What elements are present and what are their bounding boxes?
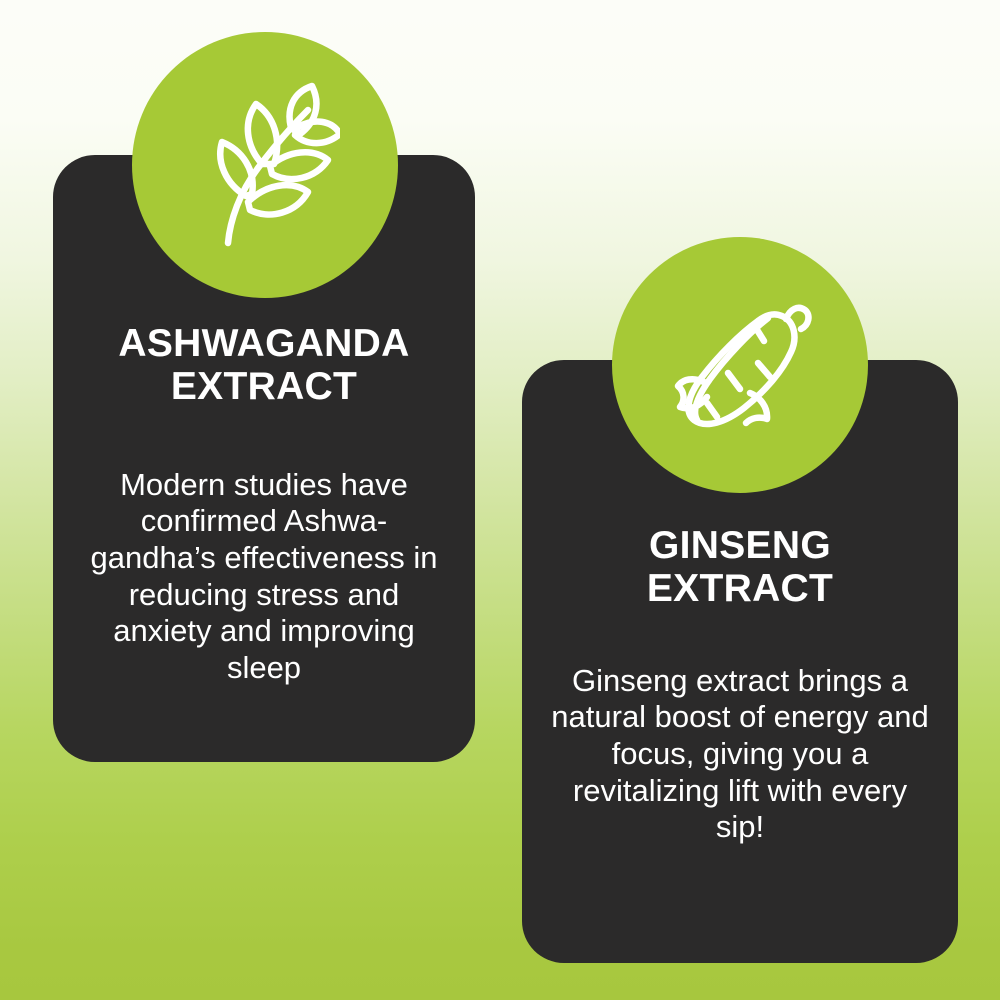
icon-badge-ashwaganda: [132, 32, 398, 298]
card-body-ashwaganda: Modern studies have confirmed Ashwa-gand…: [79, 467, 449, 686]
card-body-ginseng: Ginseng extract brings a natural boost o…: [548, 663, 932, 846]
card-title-ashwaganda: ASHWAGANDA EXTRACT: [118, 323, 409, 409]
icon-badge-ginseng: [612, 237, 868, 493]
ginseng-root-icon: [664, 289, 816, 441]
card-title-ginseng: GINSENG EXTRACT: [647, 525, 833, 611]
infographic-canvas: ASHWAGANDA EXTRACT Modern studies have c…: [0, 0, 1000, 1000]
leaf-branch-icon: [190, 80, 340, 250]
